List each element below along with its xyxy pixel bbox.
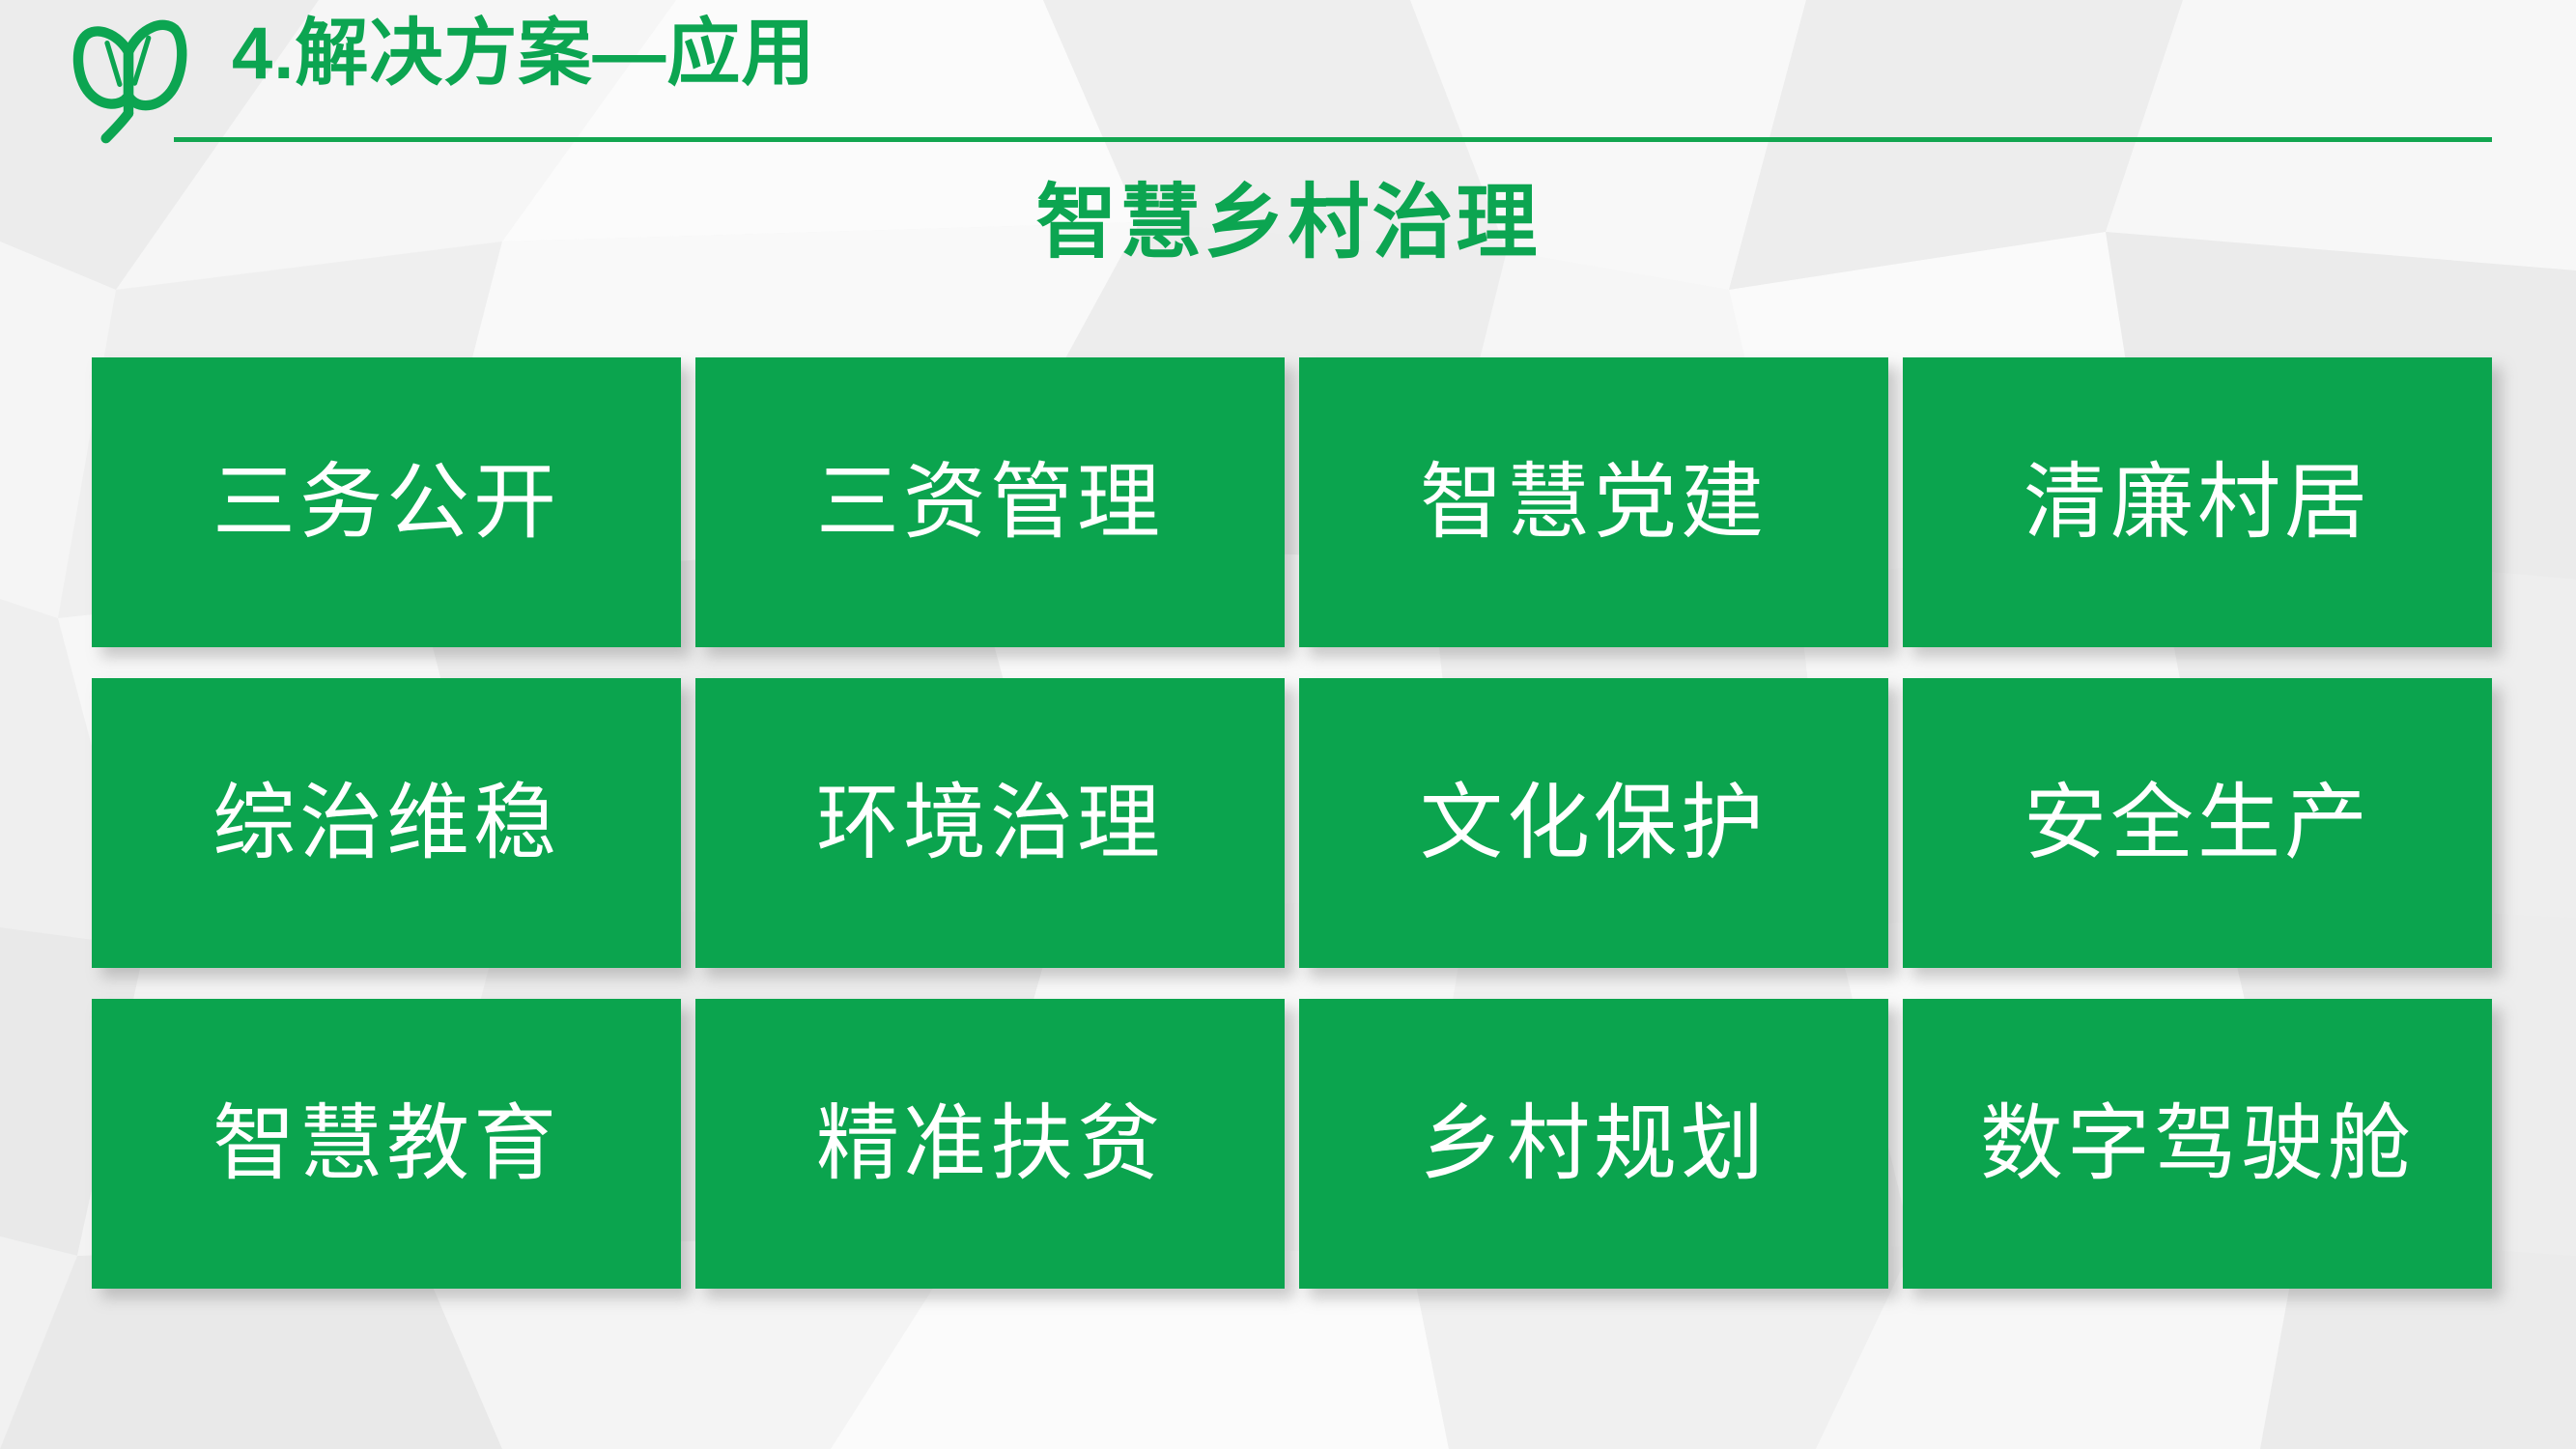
tile-label: 精准扶贫 [816, 1102, 1164, 1185]
tile-card[interactable]: 清廉村居 [1903, 357, 2492, 647]
tile-card[interactable]: 文化保护 [1299, 678, 1888, 968]
page-title: 4.解决方案—应用 [232, 17, 815, 91]
tile-card[interactable]: 三务公开 [92, 357, 681, 647]
slide-subtitle: 智慧乡村治理 [0, 176, 2576, 270]
tile-label: 智慧教育 [212, 1102, 560, 1185]
tile-label: 文化保护 [1420, 781, 1768, 865]
slide-header: 4.解决方案—应用 [0, 0, 2576, 155]
tile-label: 乡村规划 [1420, 1102, 1768, 1185]
tile-label: 数字驾驶舱 [1980, 1102, 2415, 1185]
tile-label: 智慧党建 [1420, 461, 1768, 544]
tile-label: 清廉村居 [2024, 461, 2371, 544]
tile-card[interactable]: 安全生产 [1903, 678, 2492, 968]
tile-card[interactable]: 综治维稳 [92, 678, 681, 968]
tile-card[interactable]: 乡村规划 [1299, 999, 1888, 1289]
header-divider [174, 137, 2492, 142]
tile-label: 三资管理 [816, 461, 1164, 544]
tile-label: 三务公开 [212, 461, 560, 544]
tile-label: 综治维稳 [212, 781, 560, 865]
leaf-logo-icon [66, 15, 191, 146]
tile-card[interactable]: 精准扶贫 [695, 999, 1285, 1289]
tile-label: 环境治理 [816, 781, 1164, 865]
tile-label: 安全生产 [2024, 781, 2371, 865]
capability-tile-grid: 三务公开 三资管理 智慧党建 清廉村居 综治维稳 环境治理 文化保护 安全生产 … [92, 357, 2492, 1289]
tile-card[interactable]: 智慧党建 [1299, 357, 1888, 647]
tile-card[interactable]: 数字驾驶舱 [1903, 999, 2492, 1289]
tile-card[interactable]: 智慧教育 [92, 999, 681, 1289]
tile-card[interactable]: 环境治理 [695, 678, 1285, 968]
slide-canvas: 4.解决方案—应用 智慧乡村治理 三务公开 三资管理 智慧党建 清廉村居 综治维… [0, 0, 2576, 1449]
tile-card[interactable]: 三资管理 [695, 357, 1285, 647]
